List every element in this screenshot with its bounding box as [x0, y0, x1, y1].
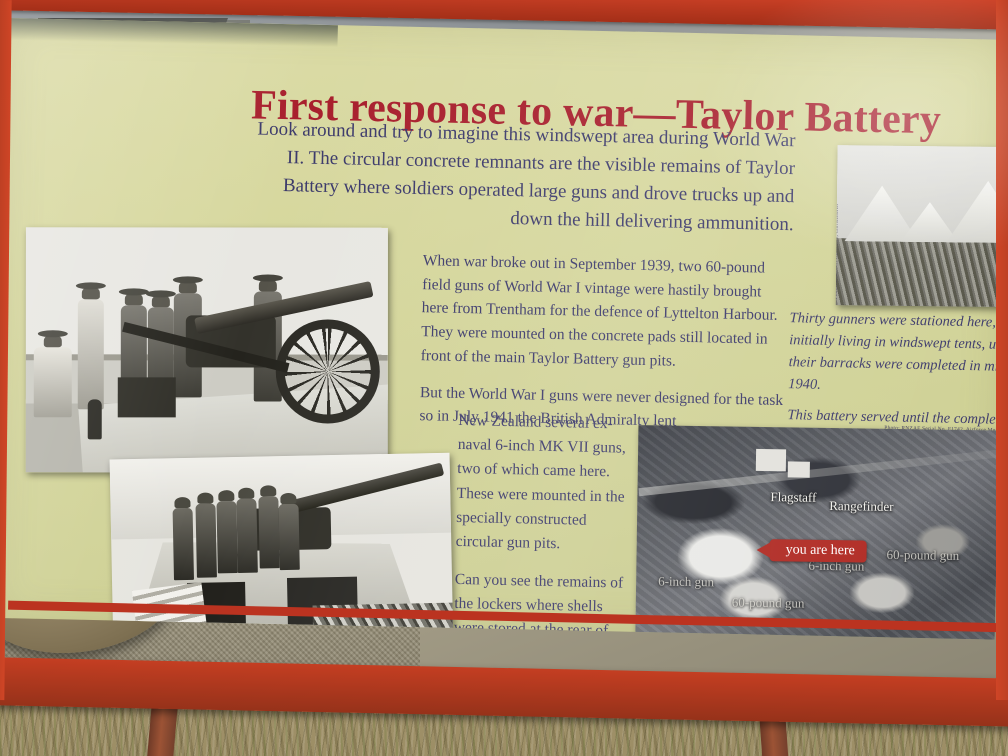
gun-crew-figure	[173, 508, 194, 580]
map-label-sixty-pound-gun-bottom: 60-pound gun	[732, 595, 805, 612]
map-label-six-inch-gun-left: 6-inch gun	[658, 573, 714, 590]
aerial-building	[788, 461, 810, 477]
historic-photo-tents: Photo: DOC Gill collection, Christchurch	[836, 145, 1008, 307]
gun-wheel	[276, 319, 380, 423]
you-are-here-badge: you are here	[769, 539, 867, 562]
soldier-figure	[78, 299, 104, 409]
sign-frame-right	[996, 0, 1008, 700]
interpretive-panel: First response to war—Taylor Battery Loo…	[0, 18, 1008, 640]
aerial-battery-map: Flagstaff Rangefinder 6-inch gun 6-inch …	[635, 425, 1008, 639]
gun-crew-figure	[236, 499, 257, 573]
ammunition-box	[118, 377, 176, 417]
tents-photo-ground	[836, 238, 1008, 307]
map-label-flagstaff: Flagstaff	[770, 489, 816, 506]
right-paragraph-1: Thirty gunners were stationed here, init…	[788, 307, 1008, 400]
gun-crew-figure	[216, 501, 237, 573]
gun-crew-figure	[258, 496, 279, 568]
narrow-text-column: New Zealand several ex-naval 6-inch MK V…	[453, 409, 631, 640]
gun-crew-figure	[278, 504, 299, 570]
historic-photo-field-gun	[26, 227, 388, 472]
narrow-paragraph-1: New Zealand several ex-naval 6-inch MK V…	[455, 409, 630, 558]
seated-soldier-figure	[34, 347, 72, 417]
gun-crew-figure	[195, 503, 216, 577]
intro-paragraph: Look around and try to imagine this wind…	[253, 115, 795, 238]
aerial-building	[756, 449, 786, 471]
artillery-shell	[88, 399, 102, 439]
photograph-of-interpretive-sign: First response to war—Taylor Battery Loo…	[0, 0, 1008, 756]
map-label-rangefinder: Rangefinder	[829, 498, 893, 515]
middle-paragraph-1: When war broke out in September 1939, tw…	[420, 249, 790, 376]
map-label-sixty-pound-gun-right: 60-pound gun	[886, 547, 959, 564]
